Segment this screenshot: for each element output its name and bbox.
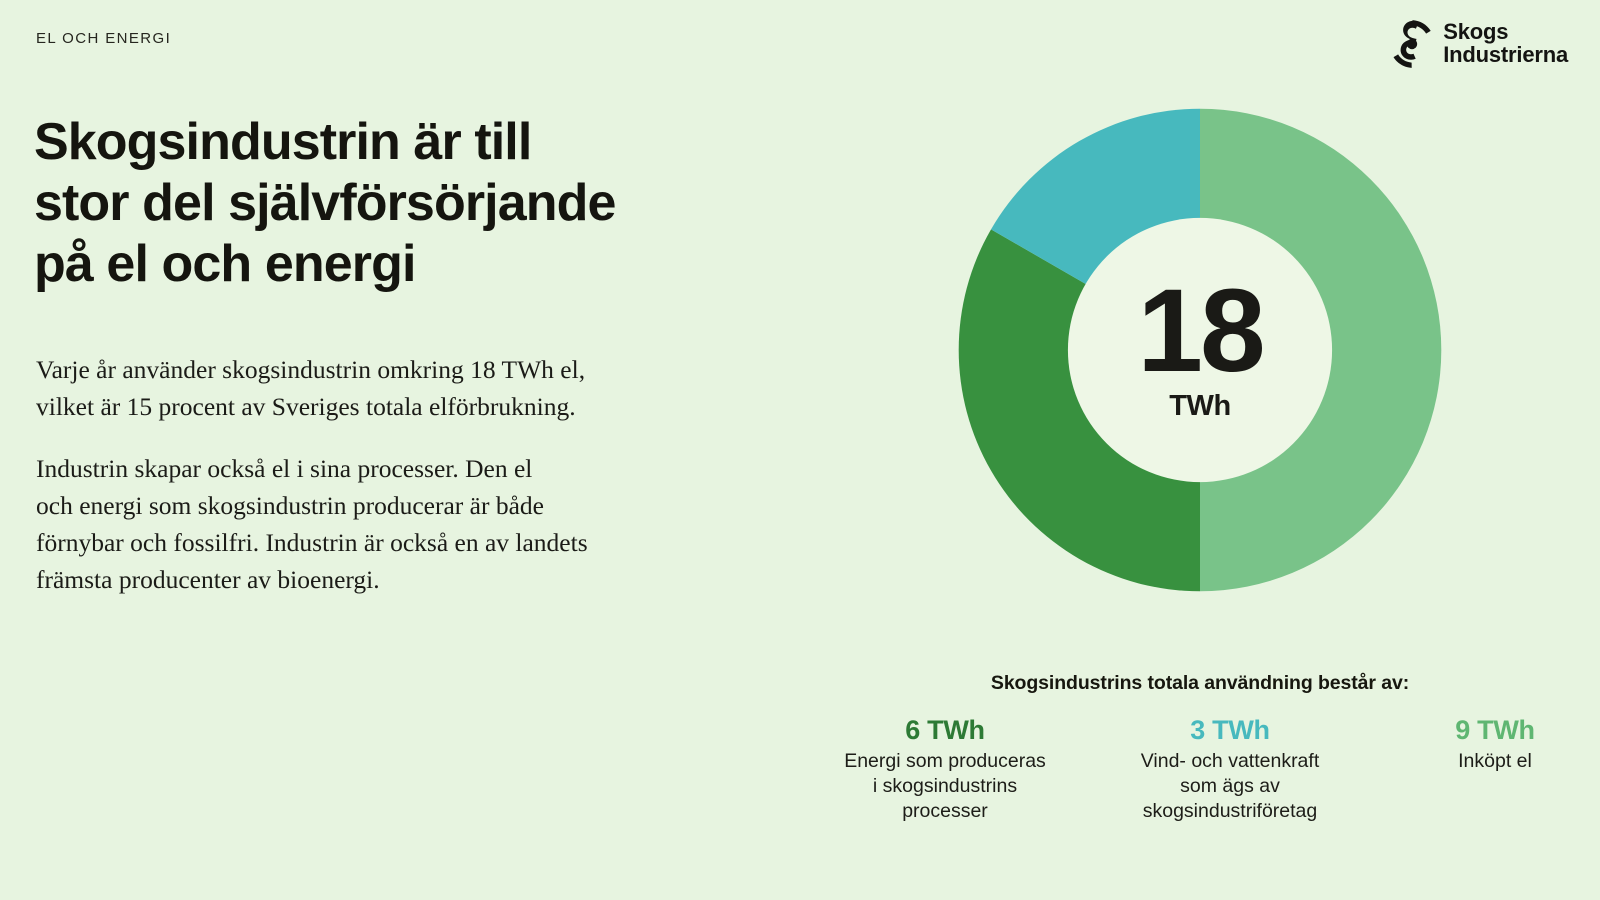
paragraph-1-line-1: Varje år använder skogsindustrin omkring…	[36, 352, 696, 389]
body-copy: Varje år använder skogsindustrin omkring…	[36, 352, 696, 598]
donut-hole	[1068, 218, 1332, 482]
legend: 6 TWh Energi som produceras i skogsindus…	[820, 714, 1600, 824]
paragraph-1: Varje år använder skogsindustrin omkring…	[36, 352, 696, 425]
infographic-page: EL OCH ENERGI Skogs Industrierna Skogsin…	[0, 0, 1600, 900]
paragraph-2-line-4: främsta producenter av bioenergi.	[36, 562, 696, 599]
paragraph-2-line-3: förnybar och fossilfri. Industrin är ock…	[36, 525, 696, 562]
legend-item-2-label: Vind- och vattenkraft som ägs av skogsin…	[1105, 749, 1355, 823]
legend-item-3-value: 9 TWh	[1390, 714, 1600, 746]
legend-item-2-label-line-1: Vind- och vattenkraft	[1141, 750, 1320, 772]
page-title: Skogsindustrin är till stor del självför…	[34, 112, 734, 294]
legend-item-processenergi: 6 TWh Energi som produceras i skogsindus…	[820, 714, 1070, 824]
skogsindustrierna-s-logo-icon	[1390, 20, 1434, 68]
legend-item-2-label-line-2: som ägs av	[1180, 775, 1280, 797]
legend-item-inkopt-el: 9 TWh Inköpt el	[1390, 714, 1600, 774]
paragraph-2: Industrin skapar också el i sina process…	[36, 451, 696, 598]
legend-item-1-label-line-3: processer	[902, 800, 988, 822]
donut-chart-svg	[946, 96, 1454, 604]
paragraph-1-line-2: vilket är 15 procent av Sveriges totala …	[36, 389, 696, 426]
legend-item-vind-vattenkraft: 3 TWh Vind- och vattenkraft som ägs av s…	[1105, 714, 1355, 824]
legend-item-1-label-line-1: Energi som produceras	[844, 750, 1046, 772]
legend-item-1-value: 6 TWh	[820, 714, 1070, 746]
paragraph-2-line-2: och energi som skogsindustrin producerar…	[36, 488, 696, 525]
brand-logo-wordmark: Skogs Industrierna	[1443, 21, 1568, 67]
legend-item-2-value: 3 TWh	[1105, 714, 1355, 746]
brand-logo: Skogs Industrierna	[1390, 20, 1568, 68]
eyebrow-label: EL OCH ENERGI	[36, 30, 171, 47]
legend-item-1-label: Energi som produceras i skogsindustrins …	[820, 749, 1070, 823]
page-title-line-1: Skogsindustrin är till	[34, 112, 734, 173]
donut-chart: 18 TWh	[900, 96, 1500, 656]
legend-item-3-label-line-1: Inköpt el	[1458, 750, 1532, 772]
legend-item-3-label: Inköpt el	[1390, 749, 1600, 774]
page-title-line-2: stor del självförsörjande	[34, 173, 734, 234]
legend-caption: Skogsindustrins totala användning består…	[900, 672, 1500, 695]
legend-item-1-label-line-2: i skogsindustrins	[873, 775, 1017, 797]
legend-item-2-label-line-3: skogsindustriföretag	[1143, 800, 1318, 822]
brand-logo-line2: Industrierna	[1443, 44, 1568, 67]
donut-chart-graphic: 18 TWh	[946, 96, 1454, 604]
paragraph-2-line-1: Industrin skapar också el i sina process…	[36, 451, 696, 488]
page-title-line-3: på el och energi	[34, 234, 734, 295]
brand-logo-line1: Skogs	[1443, 21, 1568, 44]
